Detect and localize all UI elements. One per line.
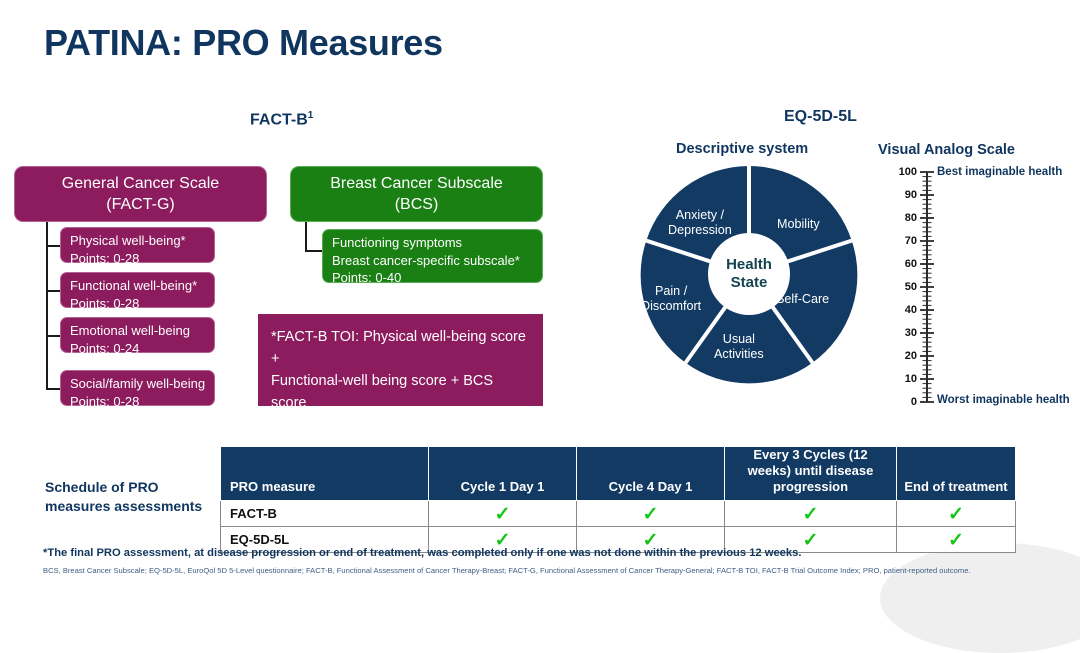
check-icon: ✓ [643, 505, 659, 524]
subscale-emotional-line1: Emotional well-being [70, 322, 206, 340]
eq5d-section-heading: EQ-5D-5L [784, 108, 857, 126]
subscale-box-physical-well-being: Physical well-being* Points: 0-28 [60, 227, 215, 263]
donut-label-anxiety-depression: Anxiety / Depression [668, 208, 732, 238]
subscale-box-functional-well-being: Functional well-being* Points: 0-28 [60, 272, 215, 308]
bcs-line1: Breast Cancer Subscale [330, 173, 503, 194]
vas-tick-label: 10 [893, 374, 917, 385]
subscale-social-line1: Social/family well-being [70, 375, 206, 393]
check-icon: ✓ [948, 505, 964, 524]
donut-label-pain-line2: Discomfort [641, 299, 701, 314]
donut-center-line1: Health [635, 256, 863, 274]
table-cell-check: ✓ [897, 527, 1016, 553]
general-cancer-scale-line2: (FACT-G) [106, 194, 174, 215]
vas-tick-label: 70 [893, 236, 917, 247]
vas-tick-label: 40 [893, 305, 917, 316]
descriptive-system-heading: Descriptive system [676, 141, 808, 157]
toi-note-line3: Points: 0-96 [271, 414, 531, 436]
subscale-physical-line2: Points: 0-28 [70, 250, 206, 268]
table-header-row: PRO measure Cycle 1 Day 1 Cycle 4 Day 1 … [221, 447, 1016, 501]
page-title: PATINA: PRO Measures [44, 22, 443, 64]
vas-tick-label: 0 [893, 397, 917, 408]
bcs-branch-line-1 [305, 250, 323, 252]
check-icon: ✓ [803, 531, 819, 550]
subscale-physical-line1: Physical well-being* [70, 232, 206, 250]
table-cell-measure-name: FACT-B [221, 501, 429, 527]
subscale-box-social-family-well-being: Social/family well-being Points: 0-28 [60, 370, 215, 406]
donut-label-pain-discomfort: Pain / Discomfort [641, 284, 701, 314]
donut-label-mobility-line1: Mobility [777, 217, 820, 232]
schedule-label-line2: measures assessments [45, 497, 215, 516]
check-icon: ✓ [803, 505, 819, 524]
table-header-every-3-cycles: Every 3 Cycles (12 weeks) until disease … [725, 447, 897, 501]
factb-heading-superscript: 1 [308, 110, 314, 121]
donut-label-usual-activities: Usual Activities [714, 332, 764, 362]
donut-label-usual-line2: Activities [714, 347, 764, 362]
general-cancer-scale-header-box: General Cancer Scale (FACT-G) [14, 166, 267, 222]
toi-note-line2: Functional-well being score + BCS score [271, 370, 531, 414]
subscale-box-functioning-symptoms: Functioning symptoms Breast cancer-speci… [322, 229, 543, 283]
table-header-pro-measure: PRO measure [221, 447, 429, 501]
donut-label-self-care: Self-Care [776, 292, 829, 307]
table-header-cycle-4-day-1: Cycle 4 Day 1 [577, 447, 725, 501]
vas-tick-label: 30 [893, 328, 917, 339]
vas-tick-label: 100 [893, 167, 917, 178]
table-header-end-of-treatment: End of treatment [897, 447, 1016, 501]
factg-trunk-line [46, 222, 48, 389]
bcs-line2: (BCS) [395, 194, 439, 215]
table-cell-check: ✓ [577, 501, 725, 527]
donut-label-anxiety-line2: Depression [668, 223, 732, 238]
table-cell-check: ✓ [725, 501, 897, 527]
subscale-social-line2: Points: 0-28 [70, 393, 206, 411]
bcs-item-line2: Breast cancer-specific subscale* [332, 252, 534, 270]
factb-toi-note-box: *FACT-B TOI: Physical well-being score +… [258, 314, 543, 406]
breast-cancer-subscale-header-box: Breast Cancer Subscale (BCS) [290, 166, 543, 222]
subscale-emotional-line2: Points: 0-24 [70, 340, 206, 358]
check-icon: ✓ [495, 505, 511, 524]
factg-branch-line-1 [46, 245, 61, 247]
vas-tick-label: 50 [893, 282, 917, 293]
table-cell-check: ✓ [429, 501, 577, 527]
toi-note-line1: *FACT-B TOI: Physical well-being score + [271, 326, 531, 370]
table-cell-check: ✓ [897, 501, 1016, 527]
general-cancer-scale-line1: General Cancer Scale [62, 173, 219, 194]
factg-branch-line-4 [46, 388, 61, 390]
eq5d-descriptive-system-donut-chart: Health State Mobility Self-Care Usual Ac… [635, 160, 863, 388]
visual-analog-scale-heading: Visual Analog Scale [878, 142, 1015, 158]
factg-branch-line-3 [46, 335, 61, 337]
bcs-trunk-line [305, 222, 307, 251]
donut-label-self-care-line1: Self-Care [776, 292, 829, 307]
vas-tick-label: 80 [893, 213, 917, 224]
pro-schedule-table: PRO measure Cycle 1 Day 1 Cycle 4 Day 1 … [220, 446, 1016, 553]
schedule-label-line1: Schedule of PRO [45, 478, 215, 497]
table-header-cycle-1-day-1: Cycle 1 Day 1 [429, 447, 577, 501]
factb-heading-text: FACT-B [250, 111, 308, 128]
bcs-item-line3: Points: 0-40 [332, 269, 534, 287]
vas-tick-label: 20 [893, 351, 917, 362]
vas-tick-label: 90 [893, 190, 917, 201]
check-icon: ✓ [948, 531, 964, 550]
visual-analog-scale: 1009080706050403020100 Best imaginable h… [893, 166, 1073, 414]
vas-best-health-label: Best imaginable health [937, 166, 1062, 178]
subscale-functional-line1: Functional well-being* [70, 277, 206, 295]
footnote-main: *The final PRO assessment, at disease pr… [43, 547, 801, 559]
vas-tick-label: 60 [893, 259, 917, 270]
donut-label-mobility: Mobility [777, 217, 820, 232]
donut-label-anxiety-line1: Anxiety / [668, 208, 732, 223]
vas-worst-health-label: Worst imaginable health [937, 394, 1070, 406]
factb-section-heading: FACT-B1 [250, 110, 313, 129]
bcs-item-line1: Functioning symptoms [332, 234, 534, 252]
subscale-box-emotional-well-being: Emotional well-being Points: 0-24 [60, 317, 215, 353]
donut-label-pain-line1: Pain / [641, 284, 701, 299]
factg-branch-line-2 [46, 290, 61, 292]
donut-label-usual-line1: Usual [714, 332, 764, 347]
schedule-of-pro-measures-label: Schedule of PRO measures assessments [45, 478, 215, 516]
subscale-functional-line2: Points: 0-28 [70, 295, 206, 313]
decorative-corner-swoosh [880, 543, 1080, 653]
table-row: FACT-B ✓ ✓ ✓ ✓ [221, 501, 1016, 527]
footnote-abbreviations: BCS, Breast Cancer Subscale; EQ-5D-5L, E… [43, 566, 983, 577]
